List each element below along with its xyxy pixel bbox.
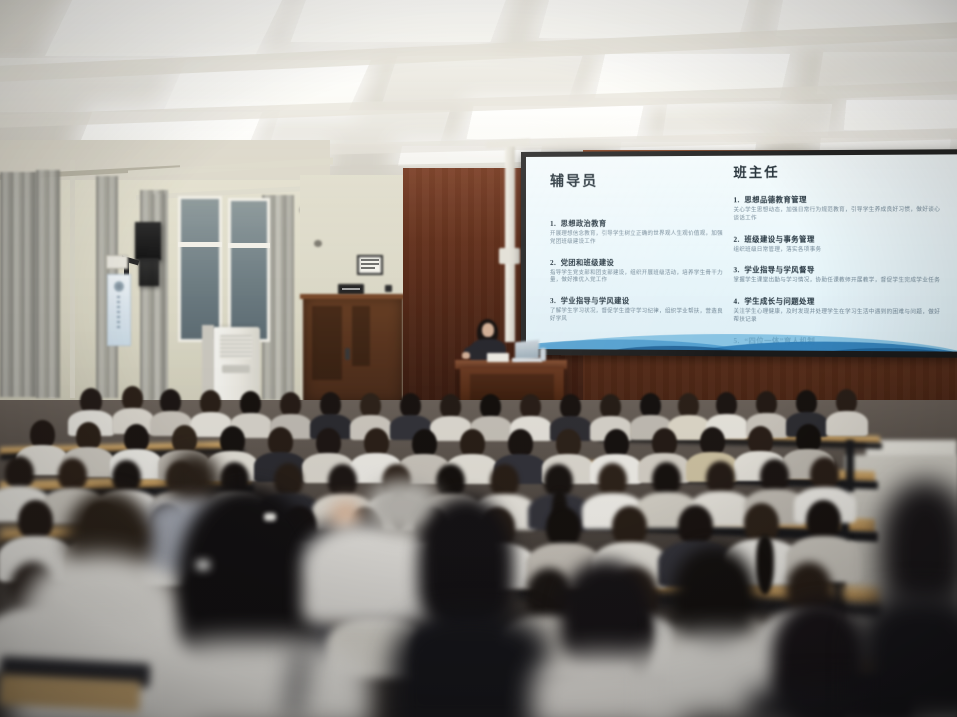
slide-item-number: 4. bbox=[733, 298, 739, 306]
wall-speaker-icon bbox=[139, 258, 159, 286]
slide-item-title: 思想政治教育 bbox=[561, 220, 607, 228]
audience-head bbox=[18, 500, 53, 541]
slide-item-title: 学业指导与学风建设 bbox=[561, 297, 630, 305]
audience-head bbox=[490, 464, 519, 498]
slide-item-title: 思想品德教育管理 bbox=[744, 196, 807, 204]
slide-heading-right: 班主任 bbox=[733, 161, 941, 181]
projection-screen-frame: 辅导员 1. 思想政治教育 开展理想信念教育，引导学生树立正确的世界观人生观价值… bbox=[521, 149, 957, 358]
door-frame bbox=[300, 294, 406, 299]
presenter-hand bbox=[462, 352, 470, 359]
wall-conduit-pipe bbox=[70, 160, 75, 398]
slide-item-body: 掌握学生课堂出勤与学习情况，协助任课教师开展教学，督促学生完成学业任务 bbox=[733, 278, 941, 286]
foreground-dark-coat bbox=[856, 592, 957, 717]
slide-item-title: 党团和班级建设 bbox=[561, 259, 614, 267]
banner-text-line bbox=[117, 311, 120, 313]
audience-head bbox=[274, 463, 303, 497]
slide-heading-left: 辅导员 bbox=[550, 170, 727, 191]
slide-item: 3. 学业指导与学风建设 了解学生学习状况，督促学生遵守学习纪律，组织学业帮扶，… bbox=[550, 290, 727, 324]
foreground-dark-hair bbox=[418, 496, 514, 628]
air-conditioner-grill bbox=[220, 335, 252, 359]
banner-emblem-icon bbox=[114, 281, 124, 292]
audience-head bbox=[328, 464, 357, 498]
laptop-base bbox=[512, 358, 542, 362]
projection-screen: 辅导员 1. 思想政治教育 开展理想信念教育，引导学生树立正确的世界观人生观价值… bbox=[526, 154, 957, 351]
slide-item-number: 3. bbox=[733, 267, 739, 275]
slide-item-number: 1. bbox=[733, 196, 739, 204]
door-panel bbox=[352, 306, 370, 366]
audience-shoulder bbox=[826, 411, 868, 436]
slide-item-number: 2. bbox=[550, 259, 556, 267]
slide-item-title: 班级建设与事务管理 bbox=[744, 235, 814, 243]
ceiling-light-panel bbox=[466, 106, 643, 139]
papers-on-podium bbox=[487, 353, 509, 362]
audience-head bbox=[760, 459, 789, 493]
wall-sign-text bbox=[361, 263, 379, 265]
ceiling-light-panel bbox=[291, 0, 510, 42]
desk-item-white bbox=[264, 513, 276, 521]
window bbox=[228, 198, 270, 342]
slide-left-column: 辅导员 1. 思想政治教育 开展理想信念教育，引导学生树立正确的世界观人生观价值… bbox=[550, 170, 727, 330]
audience-head bbox=[652, 462, 681, 496]
slide-item: 3. 学业指导与学风督导 掌握学生课堂出勤与学习情况，协助任课教师开展教学，督促… bbox=[733, 260, 941, 287]
banner-text-line bbox=[117, 326, 120, 328]
audience-head bbox=[58, 458, 87, 492]
audience-head bbox=[546, 507, 581, 548]
audience-head bbox=[612, 506, 647, 547]
audience-head bbox=[112, 460, 141, 494]
wall-switch-icon bbox=[385, 285, 392, 292]
slide-item-title: 学生成长与问题处理 bbox=[744, 298, 814, 306]
desk-item-white bbox=[196, 560, 210, 570]
audience-head bbox=[678, 505, 713, 546]
hoodie-hood bbox=[36, 556, 164, 626]
slide-item-body: 指导学生党支部和团支部建设，组织开展班级活动，培养学生骨干力量，做好推优入党工作 bbox=[550, 270, 727, 286]
slide-item-title: 学业指导与学风督导 bbox=[744, 267, 814, 275]
audience-head bbox=[810, 457, 839, 491]
slide-item-number: 3. bbox=[550, 297, 556, 305]
banner-text-line bbox=[117, 306, 120, 308]
window bbox=[178, 196, 222, 342]
foreground-white-top bbox=[140, 640, 370, 717]
audience-head bbox=[806, 500, 841, 541]
vertical-pipe bbox=[505, 142, 515, 342]
audience-head bbox=[5, 456, 34, 490]
slide-wave-graphic bbox=[526, 323, 957, 352]
window-curtain bbox=[0, 172, 40, 397]
audience-ponytail bbox=[756, 535, 774, 595]
slide-item-number: 1. bbox=[550, 220, 556, 228]
wall-speaker-icon bbox=[135, 222, 161, 260]
audience-head bbox=[706, 461, 735, 495]
slide-item: 4. 学生成长与问题处理 关注学生心理健康，及时发现并处理学生在学习生活中遇到的… bbox=[733, 291, 941, 326]
ceiling-light-panel bbox=[844, 100, 957, 130]
window-curtain bbox=[36, 170, 60, 398]
slide-right-column: 班主任 1. 思想品德教育管理 关心学生思想动态，加强日常行为规范教育，引导学生… bbox=[733, 161, 941, 352]
window-mullion bbox=[178, 242, 222, 247]
lecture-hall-photo: 辅导员 1. 思想政治教育 开展理想信念教育，引导学生树立正确的世界观人生观价值… bbox=[0, 0, 957, 717]
banner-text-line bbox=[117, 296, 120, 298]
banner-text-line bbox=[117, 316, 120, 318]
audience-head bbox=[598, 463, 627, 497]
slide-item: 2. 班级建设与事务管理 组织班级日常管理，落实各项事务 bbox=[733, 228, 941, 255]
banner-text-line bbox=[117, 321, 120, 323]
foreground-head bbox=[880, 480, 957, 608]
door-handle-icon bbox=[345, 348, 350, 360]
wall-sensor-icon bbox=[314, 240, 322, 247]
slide-item: 1. 思想政治教育 开展理想信念教育，引导学生树立正确的世界观人生观价值观，加强… bbox=[550, 212, 727, 246]
slide-item-body: 关心学生思想动态，加强日常行为规范教育，引导学生养成良好习惯，做好谈心谈话工作 bbox=[733, 207, 941, 223]
air-conditioner-panel bbox=[222, 365, 250, 373]
window-mullion bbox=[228, 243, 270, 248]
foreground-dark-coat bbox=[392, 612, 552, 717]
wall-sign bbox=[357, 255, 383, 275]
wall-plaque-text bbox=[342, 288, 360, 290]
water-bottle bbox=[540, 348, 546, 361]
presenter-head bbox=[482, 323, 494, 337]
audience-head bbox=[436, 464, 465, 498]
wall-sign-text bbox=[361, 267, 375, 269]
slide-item: 2. 党团和班级建设 指导学生党支部和团支部建设，组织开展班级活动，培养学生骨干… bbox=[550, 252, 727, 286]
slide-item-body: 开展理想信念教育，引导学生树立正确的世界观人生观价值观，加强党团班级建设工作 bbox=[550, 231, 727, 247]
slide-item: 1. 思想品德教育管理 关心学生思想动态，加强日常行为规范教育，引导学生养成良好… bbox=[733, 188, 941, 223]
ceiling-light-panel bbox=[45, 0, 285, 56]
slide-item-number: 2. bbox=[733, 235, 739, 243]
wall-sign-text bbox=[361, 259, 379, 261]
wall-device-box bbox=[106, 255, 128, 269]
banner-text-line bbox=[117, 301, 120, 303]
slide-item-body: 组织班级日常管理，落实各项事务 bbox=[733, 246, 941, 254]
door-panel bbox=[312, 306, 342, 380]
pipe-bracket bbox=[499, 248, 520, 264]
